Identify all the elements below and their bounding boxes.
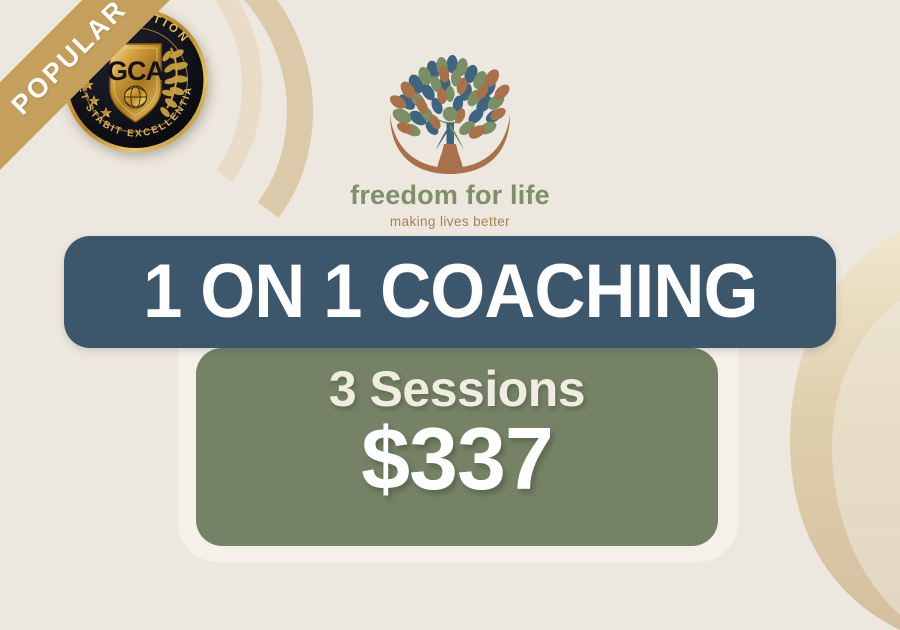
globe-icon <box>125 86 147 108</box>
tree-logo-icon <box>372 44 528 176</box>
pricing-card: POPULAR <box>0 0 900 630</box>
logo-tagline: making lives better <box>390 214 510 229</box>
price-box: 3 Sessions $337 <box>196 348 718 546</box>
logo-wordmark: freedom for life <box>350 180 550 211</box>
title-banner: 1 ON 1 COACHING <box>64 236 836 348</box>
price-amount: $337 <box>361 415 553 503</box>
title-text: 1 ON 1 COACHING <box>143 254 757 330</box>
decor-arc-right-inner <box>832 300 900 615</box>
badge-initials: GCA <box>107 56 165 86</box>
